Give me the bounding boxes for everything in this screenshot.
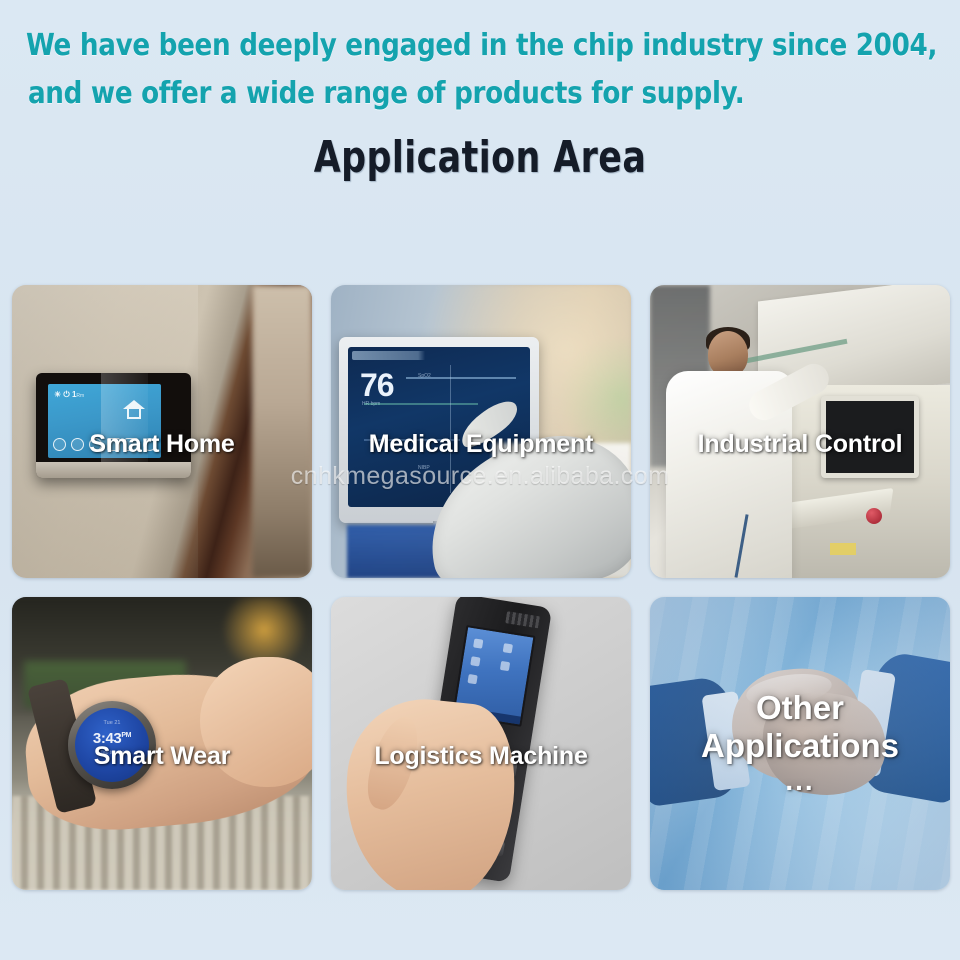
application-card-grid: ☀ ⏻ 1Rm <box>12 285 950 890</box>
application-area-page: We have been deeply engaged in the chip … <box>0 0 960 960</box>
terminal-desktop-icon-1 <box>473 638 483 648</box>
monitor-heart-rate-value: 76 <box>360 369 394 401</box>
terminal-desktop-icon-4 <box>503 643 513 653</box>
panel-weather-widget: ☀ ⏻ 1Rm <box>54 390 84 401</box>
monitor-caption-3: NIBP <box>418 465 430 472</box>
card-smart-home[interactable]: ☀ ⏻ 1Rm <box>12 285 312 578</box>
other-label-line-2: Applications <box>650 727 950 765</box>
card-medical-equipment[interactable]: 76 HR bpm SpO2 NIBP Medical Equi <box>331 285 631 578</box>
card-label-smart-wear: Smart Wear <box>12 741 312 771</box>
emergency-stop-button <box>866 508 882 524</box>
terminal-desktop-icon-3 <box>467 674 477 684</box>
watch-date: Tue 21 <box>75 720 149 726</box>
wall-control-panel: ☀ ⏻ 1Rm <box>36 373 191 478</box>
headline-block: We have been deeply engaged in the chip … <box>0 0 960 118</box>
card-label-logistics-machine: Logistics Machine <box>331 741 631 771</box>
waveform-1 <box>406 377 516 379</box>
card-label-industrial-control: Industrial Control <box>650 429 950 459</box>
monitor-topbar <box>352 351 526 360</box>
panel-base <box>36 462 191 478</box>
headline-line-2: and we offer a wide range of products fo… <box>26 70 907 118</box>
card-industrial-control[interactable]: Industrial Control <box>650 285 950 578</box>
machine-label <box>830 543 856 555</box>
terminal-desktop-icon-5 <box>500 661 510 671</box>
holding-hand <box>335 692 523 890</box>
waveform-2 <box>364 403 478 405</box>
page-title: Application Area <box>58 132 903 184</box>
card-logistics-machine[interactable]: Logistics Machine <box>331 597 631 890</box>
other-label-line-3: ... <box>650 765 950 797</box>
card-label-medical-equipment: Medical Equipment <box>331 429 631 459</box>
terminal-desktop-icon-2 <box>470 656 480 666</box>
other-label-line-1: Other <box>650 689 950 727</box>
terminal-speaker-grille <box>505 611 540 628</box>
card-label-other-applications: Other Applications ... <box>650 689 950 797</box>
card-label-smart-home: Smart Home <box>12 429 312 459</box>
headline-line-1: We have been deeply engaged in the chip … <box>26 22 907 70</box>
card-other-applications[interactable]: Other Applications ... <box>650 597 950 890</box>
card-smart-wear[interactable]: Tue 21 3:43PM Tap to add Smart Wear <box>12 597 312 890</box>
